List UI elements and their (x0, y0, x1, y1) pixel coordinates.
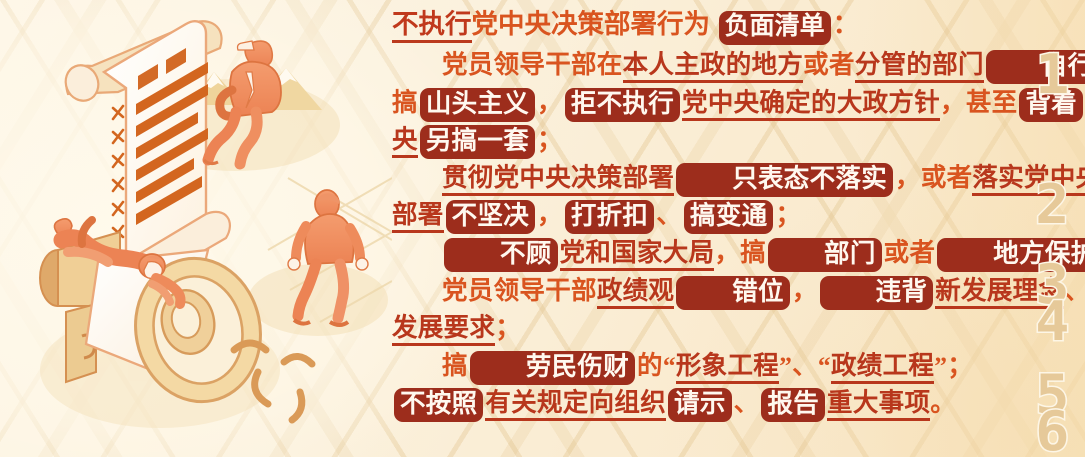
emphasis-underline: 发展要求 (392, 313, 495, 346)
line-2: 搞山头主义，拒不执行党中央确定的大政方针，甚至背着党中 (392, 84, 1024, 122)
keyword-pill: 劳民伤财 (470, 351, 635, 385)
line-5: 部署不坚决，打折扣、搞变通； (392, 196, 1024, 234)
title-colon: ： (833, 9, 860, 39)
poster-canvas: 不执行党中央决策部署行为 负面清单： 党员领导干部在本人主政的地方或者分管的部门… (0, 0, 1085, 457)
plain-text: 、 (734, 388, 760, 417)
keyword-pill: 报告 (761, 388, 825, 422)
keyword-pill: 另搞一套 (420, 125, 535, 159)
numeral-2: 2 (1036, 178, 1068, 232)
plain-text: ， (792, 276, 818, 305)
emphasis-underline: 政绩工程 (831, 351, 934, 384)
plain-text: ，或者 (895, 163, 972, 192)
plain-text: ； (537, 125, 563, 154)
keyword-pill: 拒不执行 (565, 88, 680, 122)
plain-text: ，搞 (714, 238, 766, 267)
plain-text: ”； (934, 351, 973, 380)
illustration-panel (0, 0, 392, 457)
plain-text: ”、“ (779, 351, 831, 380)
emphasis-underline: 政绩观 (597, 276, 674, 309)
title-underlined-prefix: 不执行 (392, 9, 472, 43)
keyword-pill: 不坚决 (446, 200, 535, 234)
clause-list: 党员领导干部在本人主政的地方或者分管的部门自行其是，搞山头主义，拒不执行党中央确… (392, 46, 1024, 422)
plain-text: ； (495, 313, 521, 342)
checklist-x-marks (113, 106, 123, 239)
keyword-pill: 违背 (820, 276, 934, 310)
plain-text: ， (537, 200, 563, 229)
plain-text: 的“ (637, 351, 676, 380)
plain-text: 。 (930, 388, 956, 417)
title-rest: 党中央决策部署行为 (472, 9, 711, 39)
line-8: 发展要求； (392, 309, 1024, 347)
emphasis-underline: 党中央确定的大政方针 (682, 88, 940, 121)
emphasis-underline: 分管的部门 (855, 50, 984, 83)
keyword-pill: 打折扣 (565, 200, 654, 234)
keyword-pill: 山头主义 (420, 88, 535, 122)
plain-text: 党员领导干部在 (442, 50, 623, 79)
line-10: 不按照有关规定向组织请示、报告重大事项。 (392, 384, 1024, 422)
status-badge: 负面清单 (719, 11, 831, 45)
emphasis-underline: 央 (392, 125, 418, 158)
plain-text: 或者 (803, 50, 855, 79)
index-numerals: 1 2 3 4 5 6 (1001, 0, 1079, 457)
numeral-1: 1 (1036, 48, 1068, 102)
emphasis-underline: 部署 (392, 200, 444, 233)
numeral-6: 6 (1036, 405, 1068, 457)
plain-text: ， (537, 88, 563, 117)
negative-list-text: 不执行党中央决策部署行为 负面清单： 党员领导干部在本人主政的地方或者分管的部门… (392, 4, 1024, 454)
keyword-pill: 只表态不落实 (676, 163, 893, 197)
page-title: 不执行党中央决策部署行为 负面清单： (392, 4, 1024, 44)
emphasis-underline: 重大事项 (827, 388, 930, 421)
isometric-scene-svg (0, 0, 392, 457)
plain-text: ； (775, 200, 801, 229)
plain-text: 或者 (884, 238, 936, 267)
line-3: 央另搞一套； (392, 121, 1024, 159)
numeral-4: 4 (1036, 295, 1068, 349)
emphasis-underline: 形象工程 (676, 351, 779, 384)
line-1: 党员领导干部在本人主政的地方或者分管的部门自行其是， (392, 46, 1024, 84)
keyword-pill: 搞变通 (684, 200, 773, 234)
keyword-pill: 不顾 (444, 238, 558, 272)
keyword-pill: 部门 (768, 238, 882, 272)
emphasis-underline: 贯彻党中央决策部署 (442, 163, 674, 196)
emphasis-underline: 党和国家大局 (560, 238, 715, 271)
plain-text: 搞 (442, 351, 468, 380)
emphasis-underline: 本人主政的地方 (623, 50, 804, 83)
keyword-pill: 请示 (668, 388, 732, 422)
plain-text: 搞 (392, 88, 418, 117)
emphasis-underline: 有关规定向组织 (485, 388, 666, 421)
plain-text: 、 (656, 200, 682, 229)
plain-text: 党员领导干部 (442, 276, 597, 305)
line-9: 搞劳民伤财的“形象工程”、“政绩工程”； (392, 347, 1024, 385)
keyword-pill: 错位 (676, 276, 790, 310)
keyword-pill: 不按照 (394, 388, 483, 422)
line-7: 党员领导干部政绩观错位，违背新发展理念、背离高质量 (392, 272, 1024, 310)
line-4: 贯彻党中央决策部署只表态不落实，或者落实党中央决策 (392, 159, 1024, 197)
line-6: 不顾党和国家大局，搞部门或者地方保护主义； (392, 234, 1024, 272)
